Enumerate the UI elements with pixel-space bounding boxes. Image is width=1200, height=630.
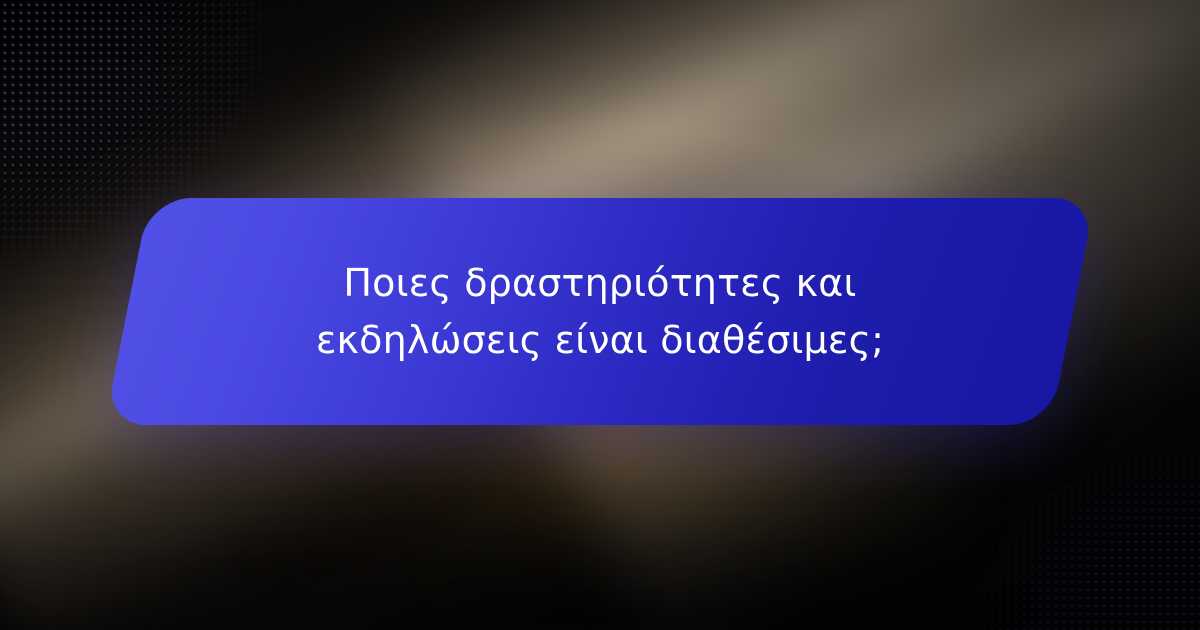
question-card: Ποιες δραστηριότητες και εκδηλώσεις είνα… bbox=[127, 198, 1073, 425]
social-card-canvas: Ποιες δραστηριότητες και εκδηλώσεις είνα… bbox=[0, 0, 1200, 630]
card-content: Ποιες δραστηριότητες και εκδηλώσεις είνα… bbox=[127, 198, 1073, 425]
card-title-text: Ποιες δραστηριότητες και εκδηλώσεις είνα… bbox=[247, 255, 953, 369]
